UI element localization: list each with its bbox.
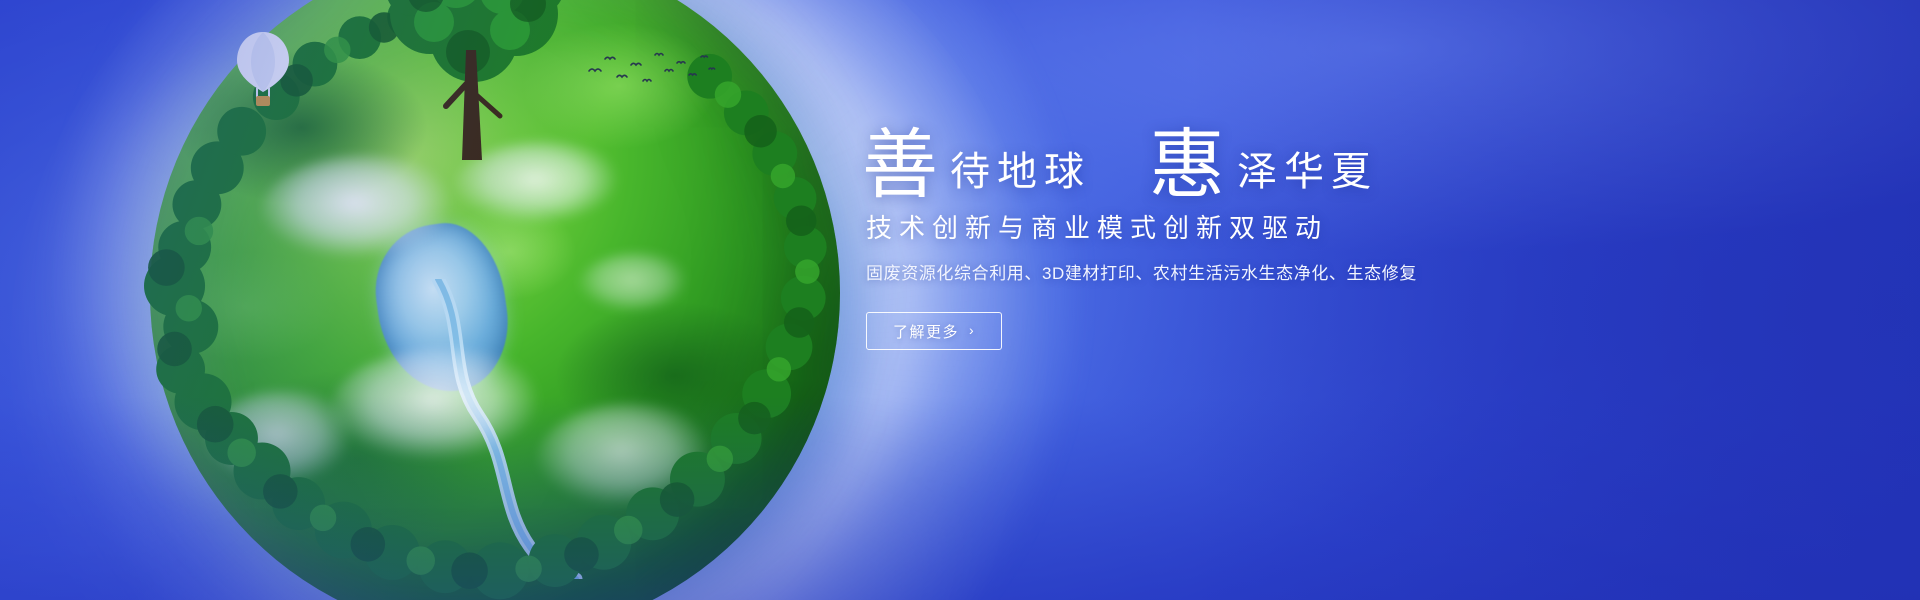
headline-char-2: 惠 [1149, 132, 1225, 202]
headline-rest-1: 待地球 [950, 152, 1091, 198]
headline-group-2: 惠 泽华夏 [1149, 128, 1378, 198]
headline-char-1: 善 [862, 132, 938, 202]
headline-group-1: 善 待地球 [862, 128, 1091, 198]
headline-rest-2: 泽华夏 [1237, 152, 1378, 198]
description-text: 固废资源化综合利用、3D建材打印、农村生活污水生态净化、生态修复 [866, 262, 1562, 286]
hero-copy: 善 待地球 惠 泽华夏 技术创新与商业模式创新双驱动 固废资源化综合利用、3D建… [862, 128, 1562, 350]
chevron-right-icon: › [969, 323, 975, 337]
learn-more-label: 了解更多 [893, 321, 959, 342]
subheadline: 技术创新与商业模式创新双驱动 [866, 212, 1562, 245]
hero-banner: 善 待地球 惠 泽华夏 技术创新与商业模式创新双驱动 固废资源化综合利用、3D建… [0, 0, 1920, 600]
learn-more-button[interactable]: 了解更多 › [866, 312, 1002, 350]
page-title: 善 待地球 惠 泽华夏 [862, 128, 1562, 198]
